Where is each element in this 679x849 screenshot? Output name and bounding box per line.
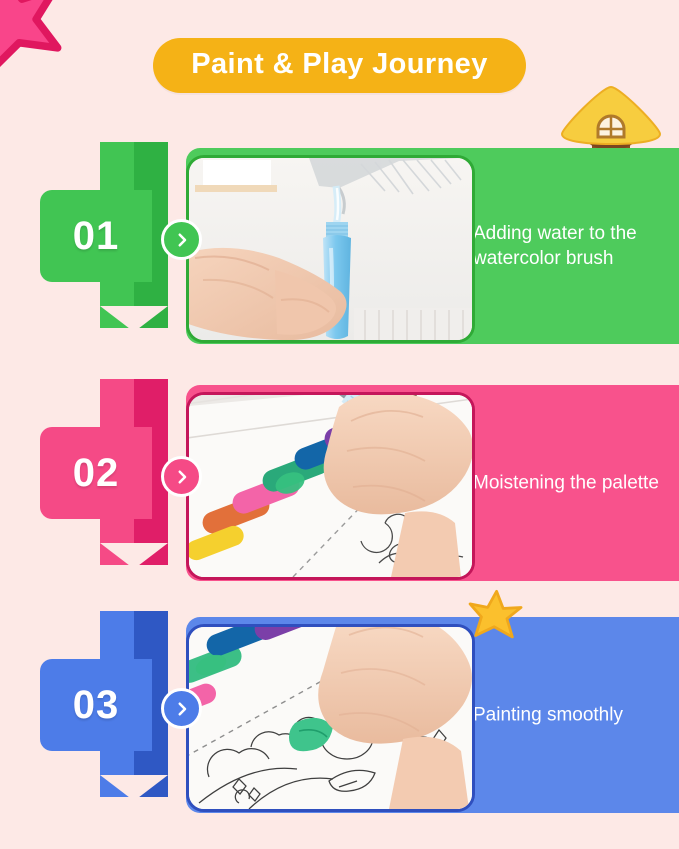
page-title: Paint & Play Journey <box>191 50 488 79</box>
star-icon <box>464 587 525 641</box>
step-number-plate-1: 01 <box>40 190 152 282</box>
chevron-right-icon[interactable] <box>161 456 202 497</box>
step-row-1: Adding water to the watercolor brush <box>0 148 679 344</box>
step-row-2: Moistening the palette <box>0 385 679 581</box>
chevron-right-icon[interactable] <box>161 219 202 260</box>
step-caption-1: Adding water to the watercolor brush <box>473 221 669 271</box>
step-photo-1 <box>186 155 475 343</box>
step-number-plate-2: 02 <box>40 427 152 519</box>
step-caption-3: Painting smoothly <box>473 702 669 727</box>
step-number-plate-3: 03 <box>40 659 152 751</box>
step-row-3: Painting smoothly <box>0 617 679 813</box>
step-badge-1: 01 <box>30 142 190 350</box>
page-title-pill: Paint & Play Journey <box>153 38 526 93</box>
step-badge-2: 02 <box>30 379 190 587</box>
poster-stage: Paint & Play Journey Adding water to the… <box>0 0 679 849</box>
step-number-3: 03 <box>73 683 120 728</box>
step-photo-2 <box>186 392 475 580</box>
step-photo-3 <box>186 624 475 812</box>
step-badge-3: 03 <box>30 611 190 819</box>
step-number-2: 02 <box>73 451 120 496</box>
step-caption-2: Moistening the palette <box>473 470 669 495</box>
step-number-1: 01 <box>73 214 120 259</box>
chevron-right-icon[interactable] <box>161 688 202 729</box>
